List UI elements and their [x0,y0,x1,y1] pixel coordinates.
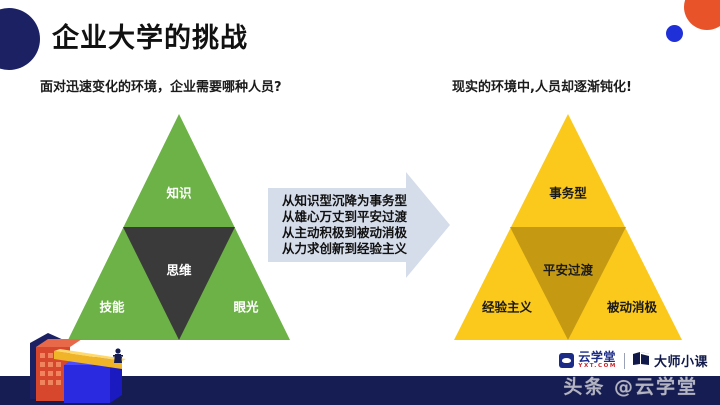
yxt-logo: 云学堂 YXT.COM [559,351,617,370]
arrow-line-3: 从主动积极到被动消极 [282,225,407,241]
triangle-label-bottom-left: 技能 [99,297,124,316]
brand-logo-row: 云学堂 YXT.COM 大师小课 [559,351,708,370]
caption-right: 现实的环境中,人员却逐渐钝化! [452,76,632,95]
page-title: 企业大学的挑战 [52,16,248,55]
arrow-text-block: 从知识型沉降为事务型 从雄心万丈到平安过渡 从主动积极到被动消极 从力求创新到经… [282,193,407,257]
slide-canvas: 企业大学的挑战 面对迅速变化的环境，企业需要哪种人员? 现实的环境中,人员却逐渐… [0,0,720,405]
watermark: 头条 @云学堂 [563,372,698,399]
triangle-label-center: 思维 [166,260,191,279]
triangle-label-bottom-left: 经验主义 [482,297,532,316]
triangle-label-bottom-right: 被动消极 [607,297,657,316]
logo-divider [624,353,625,369]
knowledge-triangle: 知识 思维 技能 眼光 [66,112,292,342]
triangle-label-top: 知识 [166,183,191,202]
caption-left: 面对迅速变化的环境，企业需要哪种人员? [40,76,282,95]
cloud-mark-icon [559,353,574,368]
transition-arrow: 从知识型沉降为事务型 从雄心万丈到平安过渡 从主动积极到被动消极 从力求创新到经… [268,172,450,278]
triangle-label-bottom-right: 眼光 [233,297,258,316]
arrow-line-4: 从力求创新到经验主义 [282,241,407,257]
open-book-icon [632,351,650,370]
orange-circle-decoration [684,0,720,30]
arrow-line-2: 从雄心万丈到平安过渡 [282,209,407,225]
yxt-logo-text: 云学堂 YXT.COM [578,351,617,370]
yxt-logo-en: YXT.COM [578,364,617,370]
dashi-xiaoke-logo: 大师小课 [632,351,708,370]
yxt-logo-cn: 云学堂 [578,351,617,363]
books-illustration [14,327,142,405]
dashi-xiaoke-label: 大师小课 [654,351,708,370]
triangle-label-center: 平安过渡 [543,260,593,279]
triangle-label-top: 事务型 [549,183,587,202]
dulled-triangle: 事务型 平安过渡 经验主义 被动消极 [452,112,684,342]
blue-circle-decoration [666,25,683,42]
arrow-line-1: 从知识型沉降为事务型 [282,193,407,209]
navy-circle-decoration [0,8,40,70]
